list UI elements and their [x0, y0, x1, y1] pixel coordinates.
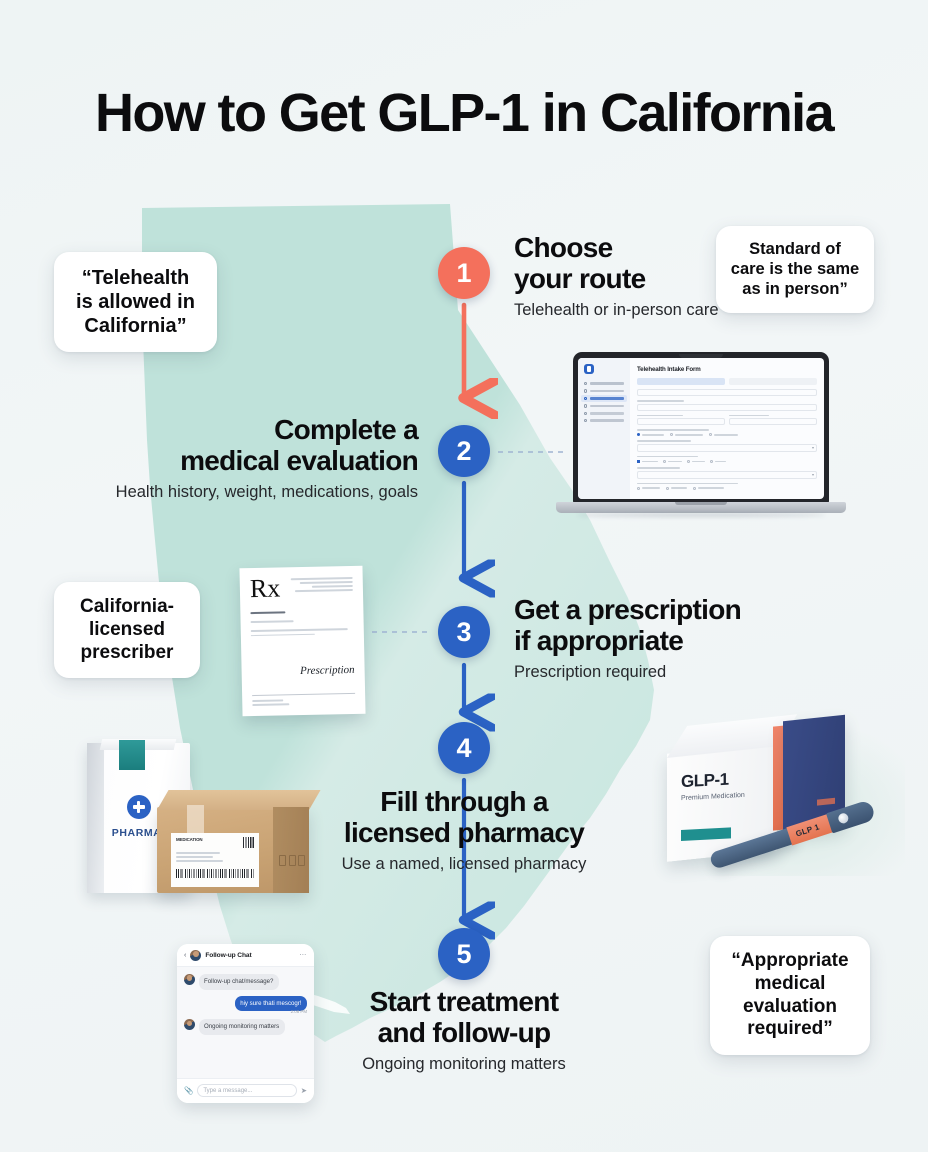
step-4-heading-line2: licensed pharmacy: [284, 817, 644, 848]
chat-header: ‹ Follow-up Chat ⋯: [177, 944, 314, 967]
rx-footer: [252, 693, 355, 706]
box-tape: [187, 805, 204, 835]
chevron-down-icon: ▾: [812, 445, 814, 450]
radio-icon[interactable]: [693, 487, 696, 490]
laptop-notch: [679, 354, 723, 358]
shipping-box: MEDICATION: [157, 807, 309, 893]
step-4-subtext: Use a named, licensed pharmacy: [284, 854, 644, 875]
step-badge-5[interactable]: 5: [438, 928, 490, 980]
radio-icon[interactable]: [709, 433, 712, 436]
tab-patient-info[interactable]: [637, 378, 725, 385]
intake-form-title: Telehealth Intake Form: [637, 366, 817, 373]
rx-signature: Prescription: [252, 664, 355, 678]
circle-icon: [584, 404, 587, 407]
radio-group-reason[interactable]: [637, 433, 817, 436]
qr-code-icon: [243, 837, 254, 848]
step-3-heading-line1: Get a prescription: [514, 594, 814, 625]
circle-icon: [584, 382, 587, 385]
form-app-sidebar: [578, 358, 630, 499]
circle-icon: [584, 389, 587, 392]
callout-standard-of-care: Standard of care is the same as in perso…: [716, 226, 874, 313]
page-title: How to Get GLP-1 in California: [0, 82, 928, 144]
more-horizontal-icon[interactable]: ⋯: [299, 952, 307, 959]
step-4-text: Fill through a licensed pharmacy Use a n…: [284, 786, 644, 874]
radio-icon[interactable]: [710, 460, 713, 463]
step-1-text: Choose your route Telehealth or in-perso…: [514, 232, 720, 320]
sidebar-item-doctors[interactable]: [581, 410, 627, 417]
radio-icon[interactable]: [637, 487, 640, 490]
radio-group-coverage[interactable]: [637, 460, 817, 463]
avatar: [184, 1019, 195, 1030]
step-5-heading-line2: and follow-up: [284, 1017, 644, 1048]
pen-dose-window: [837, 812, 850, 825]
step-2-heading-line1: Complete a: [60, 414, 418, 445]
step-number-3: 3: [456, 619, 471, 646]
barcode-icon: [176, 869, 254, 878]
rx-prescriber-header: [291, 575, 353, 592]
step-5-heading-line1: Start treatment: [284, 986, 644, 1017]
radio-icon[interactable]: [687, 460, 690, 463]
sidebar-item-conversations[interactable]: [581, 417, 627, 424]
list-item: Follow-up chat/message?: [184, 974, 307, 990]
chat-composer: 📎 Type a message... ➤: [177, 1078, 314, 1103]
step-5-text: Start treatment and follow-up Ongoing mo…: [284, 986, 644, 1074]
select-prescription[interactable]: ▾: [637, 471, 817, 479]
step-badge-3[interactable]: 3: [438, 606, 490, 658]
chat-message-list: Follow-up chat/message? hiy sure thati m…: [177, 967, 314, 1078]
chat-header-title: Follow-up Chat: [205, 952, 251, 959]
chat-message-text: Follow-up chat/message?: [199, 974, 279, 990]
avatar: [190, 950, 201, 961]
step-badge-2[interactable]: 2: [438, 425, 490, 477]
glp1-product-name: GLP-1: [681, 767, 777, 792]
chat-message-text: Ongoing monitoring matters: [199, 1019, 285, 1035]
select-dose-account[interactable]: ▾: [637, 444, 817, 452]
field-previous-record[interactable]: [637, 418, 725, 425]
list-item: hiy sure thati mescogr! 2:08 PM: [184, 996, 307, 1015]
pharmacy-bag-and-shipping-box: PHARMACY MEDICATION: [83, 733, 318, 893]
step-1-heading-line1: Choose: [514, 232, 720, 263]
medical-cross-icon: [127, 795, 151, 819]
field-details[interactable]: [637, 404, 817, 411]
circle-icon: [584, 419, 587, 422]
chat-message-input[interactable]: Type a message...: [197, 1084, 296, 1097]
intake-form-panel: Telehealth Intake Form: [630, 358, 824, 499]
step-4-heading-line1: Fill through a: [284, 786, 644, 817]
this-side-up-icon: [289, 855, 296, 866]
callout-ca-licensed-prescriber: California- licensed prescriber: [54, 582, 200, 678]
shipping-label: MEDICATION: [171, 833, 259, 887]
bag-seal-tape: [119, 740, 145, 770]
circle-icon: [584, 397, 587, 400]
radio-icon[interactable]: [663, 460, 666, 463]
prescription-pad-mockup: Rx Prescription: [239, 566, 365, 717]
field-patient-name[interactable]: [637, 389, 817, 396]
radio-icon[interactable]: [637, 433, 640, 436]
glp1-tagline: Premium Medication: [681, 790, 777, 802]
callout-appropriate-evaluation: “Appropriate medical evaluation required…: [710, 936, 870, 1055]
step-5-subtext: Ongoing monitoring matters: [284, 1054, 644, 1075]
sidebar-item-prescriptions[interactable]: [581, 402, 627, 409]
list-item: Ongoing monitoring matters: [184, 1019, 307, 1035]
laptop-shadow: [576, 513, 826, 517]
pen-label-text: GLP 1: [794, 822, 820, 838]
sidebar-item-overview[interactable]: [581, 387, 627, 394]
send-icon[interactable]: ➤: [301, 1087, 307, 1095]
rx-body: [250, 610, 353, 636]
step-number-1: 1: [456, 260, 471, 287]
laptop-telehealth-form-mockup: Telehealth Intake Form: [556, 352, 846, 532]
chat-message-timestamp: 2:08 PM: [184, 1009, 307, 1014]
step-number-2: 2: [456, 438, 471, 465]
circle-icon: [584, 412, 587, 415]
chevron-left-icon[interactable]: ‹: [184, 952, 186, 959]
followup-chat-mockup: ‹ Follow-up Chat ⋯ Follow-up chat/messag…: [177, 944, 314, 1103]
step-number-4: 4: [456, 735, 471, 762]
avatar: [184, 974, 195, 985]
glp1-medication-box-and-pen: GLP-1 Premium Medication GLP 1: [655, 712, 905, 877]
rx-symbol: Rx: [250, 576, 281, 600]
sidebar-item-intake-form[interactable]: [581, 395, 627, 402]
shipping-label-title: MEDICATION: [176, 837, 202, 842]
checkbox-icon[interactable]: [637, 460, 640, 463]
step-badge-1[interactable]: 1: [438, 247, 490, 299]
field-date-of-report[interactable]: [729, 418, 817, 425]
step-3-text: Get a prescription if appropriate Prescr…: [514, 594, 814, 682]
sidebar-item-dashboard[interactable]: [581, 380, 627, 387]
bag-gusset: [87, 743, 104, 893]
step-2-subtext: Health history, weight, medications, goa…: [60, 482, 418, 503]
radio-icon[interactable]: [666, 487, 669, 490]
step-number-5: 5: [456, 941, 471, 968]
callout-telehealth-allowed: “Telehealth is allowed in California”: [54, 252, 217, 352]
step-3-heading-line2: if appropriate: [514, 625, 814, 656]
paperclip-icon[interactable]: 📎: [184, 1087, 193, 1095]
fragile-icon: [279, 855, 286, 866]
step-2-heading-line2: medical evaluation: [60, 445, 418, 476]
chevron-down-icon: ▾: [812, 472, 814, 477]
box-side: [273, 807, 309, 893]
tab-contact-info[interactable]: [729, 378, 817, 385]
radio-icon[interactable]: [670, 433, 673, 436]
app-logo-icon: [584, 364, 594, 374]
step-2-text: Complete a medical evaluation Health his…: [60, 414, 418, 502]
step-1-heading-line2: your route: [514, 263, 720, 294]
step-badge-4[interactable]: 4: [438, 722, 490, 774]
step-1-subtext: Telehealth or in-person care: [514, 300, 720, 321]
recycle-icon: [298, 855, 305, 866]
step-3-subtext: Prescription required: [514, 662, 814, 683]
laptop-base: [556, 502, 846, 513]
radio-group-fill-date[interactable]: [637, 487, 817, 490]
